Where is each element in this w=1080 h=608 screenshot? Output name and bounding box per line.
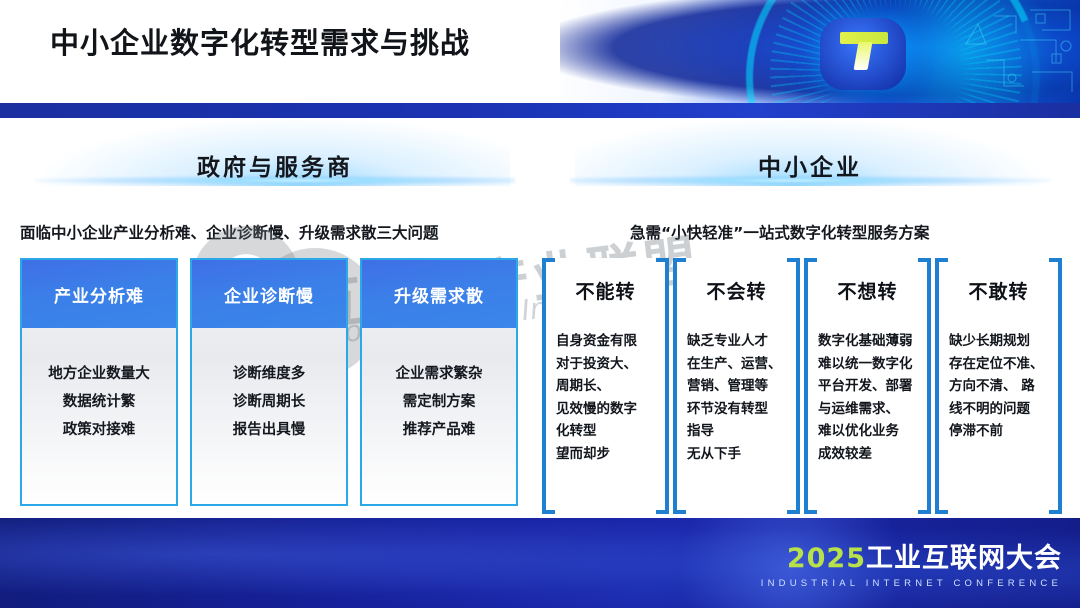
right-section-heading: 中小企业 xyxy=(575,148,1045,182)
right-card[interactable]: 不能转 自身资金有限 对于投资大、 周期长、 见效慢的数字 化转型 望而却步 xyxy=(542,258,669,506)
left-card-line: 需定制方案 xyxy=(362,388,516,416)
right-card-title: 不想转 xyxy=(804,277,931,304)
left-card-body: 诊断维度多 诊断周期长 报告出具慢 xyxy=(192,328,346,444)
right-subheading: 急需“小快轻准”一站式数字化转型服务方案 xyxy=(630,221,929,243)
header-blue-bar xyxy=(0,103,1080,118)
left-card-line: 地方企业数量大 xyxy=(22,360,176,388)
right-card-line: 对于投资大、 xyxy=(556,353,660,376)
right-card-body: 缺乏专业人才 在生产、运营、 营销、管理等 环节没有转型 指导 无从下手 xyxy=(687,330,791,465)
right-card-line: 线不明的问题 xyxy=(949,398,1053,421)
right-card[interactable]: 不会转 缺乏专业人才 在生产、运营、 营销、管理等 环节没有转型 指导 无从下手 xyxy=(673,258,800,506)
left-card[interactable]: 产业分析难 地方企业数量大 数据统计繁 政策对接难 xyxy=(20,258,178,506)
left-card-line: 诊断维度多 xyxy=(192,360,346,388)
right-card-line: 环节没有转型 xyxy=(687,398,791,421)
right-card-line: 周期长、 xyxy=(556,375,660,398)
left-subheading: 面临中小企业产业分析难、企业诊断慢、升级需求散三大问题 xyxy=(20,221,439,243)
left-card-body: 企业需求繁杂 需定制方案 推荐产品难 xyxy=(362,328,516,444)
right-card-line: 难以统一数字化 xyxy=(818,353,922,376)
left-card-line: 企业需求繁杂 xyxy=(362,360,516,388)
page-title: 中小企业数字化转型需求与挑战 xyxy=(50,20,470,62)
right-card-title: 不敢转 xyxy=(935,277,1062,304)
right-card-line: 缺少长期规划 xyxy=(949,330,1053,353)
left-card-group: 产业分析难 地方企业数量大 数据统计繁 政策对接难 企业诊断慢 诊断维度多 诊断… xyxy=(20,258,520,506)
left-card[interactable]: 升级需求散 企业需求繁杂 需定制方案 推荐产品难 xyxy=(360,258,518,506)
left-card-line: 诊断周期长 xyxy=(192,388,346,416)
right-card-line: 平台开发、部署 xyxy=(818,375,922,398)
right-card-line: 方向不清、 路 xyxy=(949,375,1053,398)
right-card-line: 缺乏专业人才 xyxy=(687,330,791,353)
left-card-title: 升级需求散 xyxy=(394,282,484,307)
right-card-body: 自身资金有限 对于投资大、 周期长、 见效慢的数字 化转型 望而却步 xyxy=(556,330,660,465)
conference-t-logo-icon xyxy=(840,32,888,70)
left-card[interactable]: 企业诊断慢 诊断维度多 诊断周期长 报告出具慢 xyxy=(190,258,348,506)
left-card-title: 企业诊断慢 xyxy=(224,282,314,307)
right-card-line: 望而却步 xyxy=(556,443,660,466)
slide-header: 中小企业数字化转型需求与挑战 xyxy=(0,0,1080,118)
left-card-line: 政策对接难 xyxy=(22,416,176,444)
right-card-line: 数字化基础薄弱 xyxy=(818,330,922,353)
right-card-line: 停滞不前 xyxy=(949,420,1053,443)
right-card-line: 化转型 xyxy=(556,420,660,443)
right-card-line: 与运维需求、 xyxy=(818,398,922,421)
left-card-line: 推荐产品难 xyxy=(362,416,516,444)
slide-footer: 2025工业互联网大会 INDUSTRIAL INTERNET CONFEREN… xyxy=(0,518,1080,608)
slide-root: 中小企业数字化转型需求与挑战 政府与服务商 中小企业 面临中小企业产业分析难、企… xyxy=(0,0,1080,608)
right-card-line: 成效较差 xyxy=(818,443,922,466)
left-card-body: 地方企业数量大 数据统计繁 政策对接难 xyxy=(22,328,176,444)
right-card-line: 营销、管理等 xyxy=(687,375,791,398)
right-card-body: 缺少长期规划 存在定位不准、 方向不清、 路 线不明的问题 停滞不前 xyxy=(949,330,1053,443)
left-card-line: 数据统计繁 xyxy=(22,388,176,416)
header-tech-graphic xyxy=(560,0,1080,103)
right-card-line: 在生产、运营、 xyxy=(687,353,791,376)
right-card[interactable]: 不想转 数字化基础薄弱 难以统一数字化 平台开发、部署 与运维需求、 难以优化业… xyxy=(804,258,931,506)
left-card-line: 报告出具慢 xyxy=(192,416,346,444)
right-card-group: 不能转 自身资金有限 对于投资大、 周期长、 见效慢的数字 化转型 望而却步 不… xyxy=(542,258,1062,506)
right-card-line: 存在定位不准、 xyxy=(949,353,1053,376)
right-card-line: 无从下手 xyxy=(687,443,791,466)
logo-subtitle: INDUSTRIAL INTERNET CONFERENCE xyxy=(761,578,1062,589)
logo-year: 2025 xyxy=(787,543,866,574)
left-card-title: 产业分析难 xyxy=(54,282,144,307)
conference-logo: 2025工业互联网大会 INDUSTRIAL INTERNET CONFEREN… xyxy=(761,536,1062,589)
right-card-line: 指导 xyxy=(687,420,791,443)
right-card-title: 不会转 xyxy=(673,277,800,304)
left-section-heading: 政府与服务商 xyxy=(40,148,510,182)
right-card-line: 难以优化业务 xyxy=(818,420,922,443)
left-card-header: 升级需求散 xyxy=(362,260,516,328)
logo-cn: 工业互联网大会 xyxy=(866,543,1062,574)
right-card-title: 不能转 xyxy=(542,277,669,304)
right-card[interactable]: 不敢转 缺少长期规划 存在定位不准、 方向不清、 路 线不明的问题 停滞不前 xyxy=(935,258,1062,506)
right-card-line: 见效慢的数字 xyxy=(556,398,660,421)
right-card-body: 数字化基础薄弱 难以统一数字化 平台开发、部署 与运维需求、 难以优化业务 成效… xyxy=(818,330,922,465)
logo-main-line: 2025工业互联网大会 xyxy=(761,536,1062,575)
left-card-header: 企业诊断慢 xyxy=(192,260,346,328)
right-card-line: 自身资金有限 xyxy=(556,330,660,353)
left-card-header: 产业分析难 xyxy=(22,260,176,328)
